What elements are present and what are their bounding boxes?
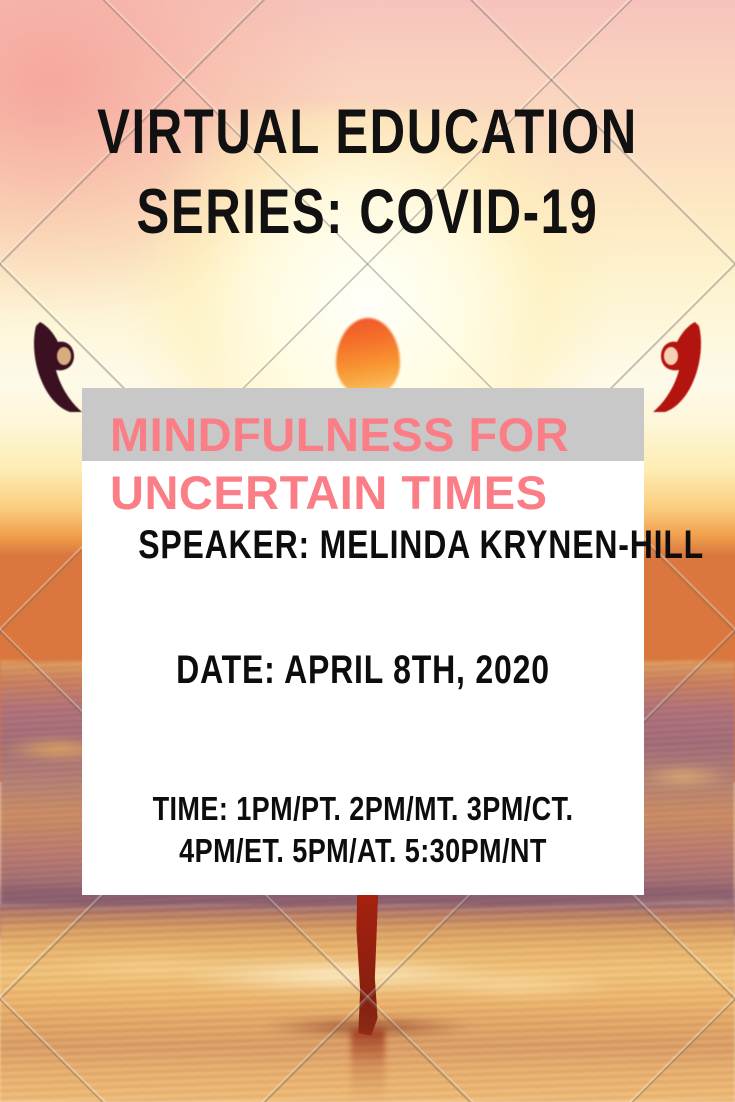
headline-line-1: VIRTUAL EDUCATION	[81, 92, 654, 172]
info-card: MINDFULNESS FOR UNCERTAIN TIMES SPEAKER:…	[82, 388, 644, 895]
page-title: VIRTUAL EDUCATION SERIES: COVID-19	[81, 92, 654, 252]
figure-reflection	[351, 1030, 385, 1102]
poster: VIRTUAL EDUCATION SERIES: COVID-19 MINDF…	[0, 0, 735, 1102]
time-line-2: 4PM/ET. 5PM/AT. 5:30PM/NT	[133, 830, 594, 872]
date-line: DATE: APRIL 8TH, 2020	[138, 646, 588, 694]
session-subheading: MINDFULNESS FOR UNCERTAIN TIMES	[110, 406, 640, 522]
headline-line-2: SERIES: COVID-19	[81, 172, 654, 252]
time-block: TIME: 1PM/PT. 2PM/MT. 3PM/CT. 4PM/ET. 5P…	[133, 788, 594, 872]
speaker-line: SPEAKER: MELINDA KRYNEN-HILL	[138, 521, 588, 569]
subheading-line-1: MINDFULNESS FOR	[110, 406, 640, 464]
right-mudra-hand-icon	[637, 320, 709, 412]
right-mudra-hand-svg	[637, 320, 709, 412]
subheading-line-2: UNCERTAIN TIMES	[110, 464, 640, 522]
time-line-1: TIME: 1PM/PT. 2PM/MT. 3PM/CT.	[133, 788, 594, 830]
info-card-content: MINDFULNESS FOR UNCERTAIN TIMES SPEAKER:…	[82, 388, 644, 895]
